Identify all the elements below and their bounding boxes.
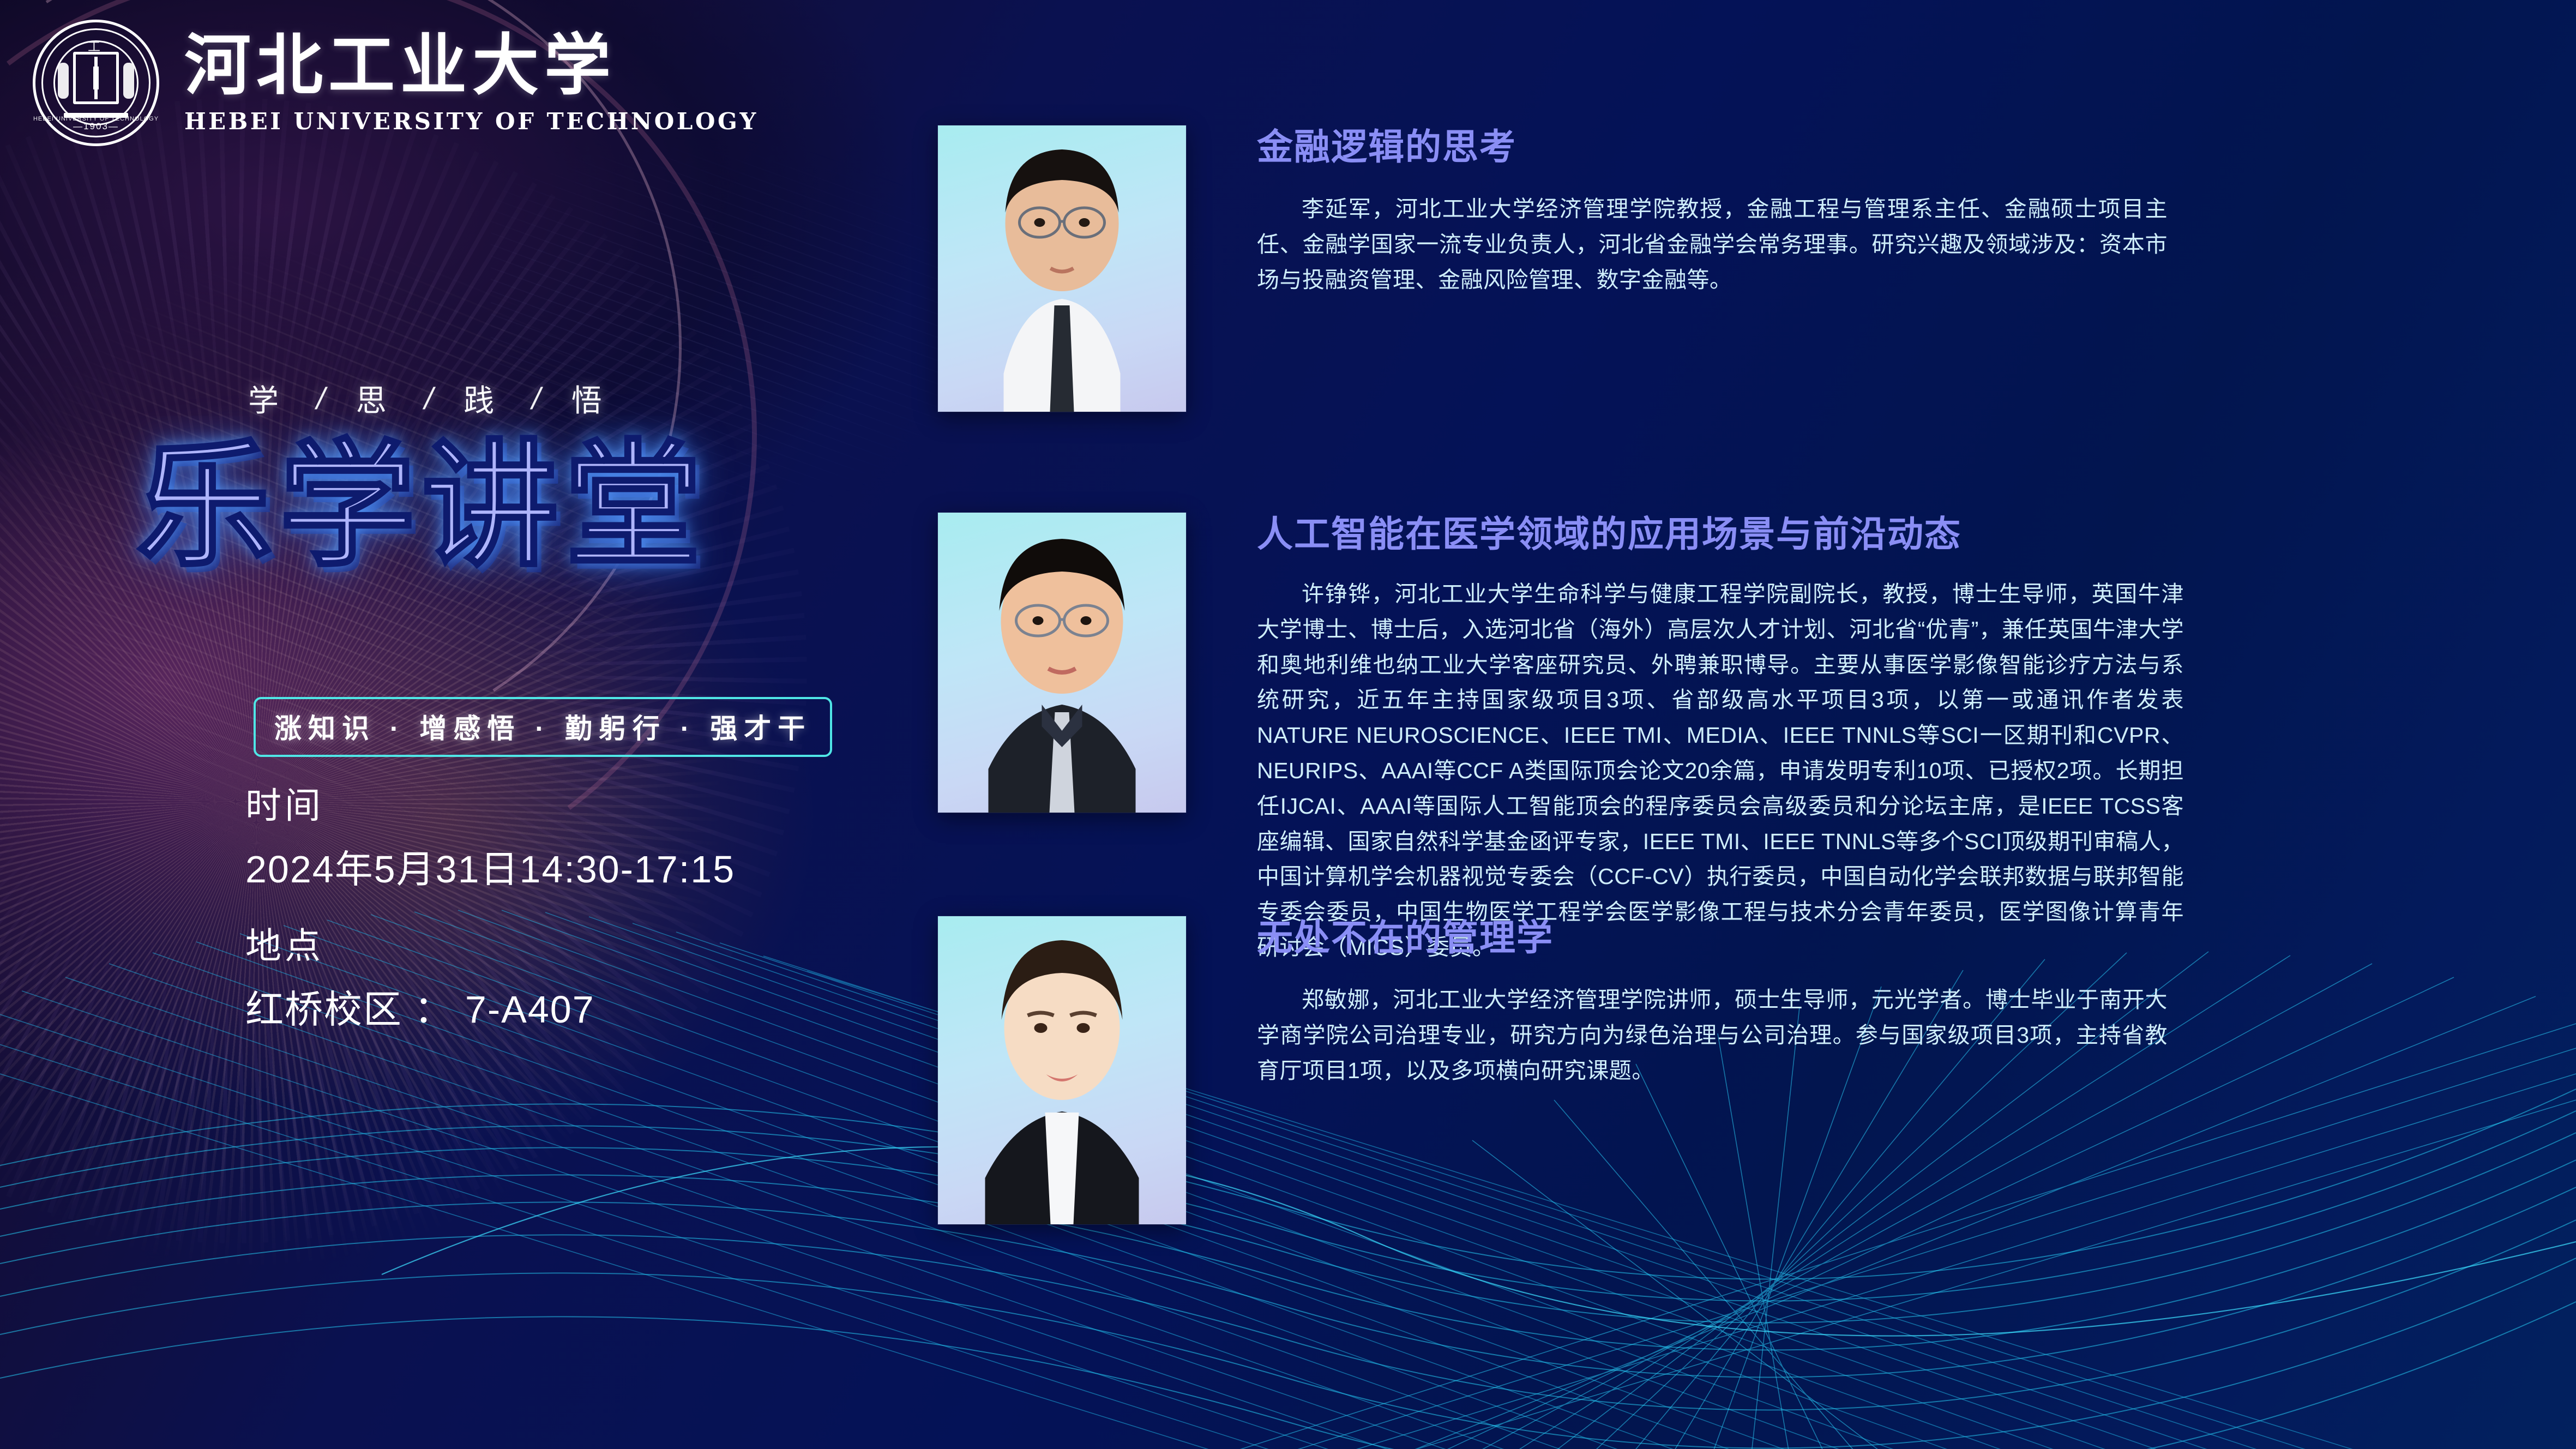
event-info: 时间 2024年5月31日14:30-17:15 地点 红桥校区 ： 7-A40…: [245, 783, 735, 1035]
poster-canvas: 工 —1903— HEBEI UNIVERSITY OF TECHNOLOGY …: [0, 0, 2576, 1449]
speaker-portrait: [938, 125, 1186, 412]
time-label: 时间: [245, 783, 735, 829]
speaker-item: 人工智能在医学领域的应用场景与前沿动态 许铮铧，河北工业大学生命科学与健康工程学…: [938, 513, 2184, 965]
keyword-separator-0: /: [313, 381, 329, 416]
speaker-portrait: [938, 513, 1186, 813]
speaker-topic: 金融逻辑的思考: [1257, 125, 2168, 169]
speaker-portrait: [938, 916, 1186, 1224]
speakers-list: 金融逻辑的思考 李延军，河北工业大学经济管理学院教授，金融工程与管理系主任、金融…: [905, 0, 2576, 1449]
hero-panel: 学 / 思 / 践 / 悟 乐学讲堂 涨知识 · 增感悟 · 勤躬行 · 强才干…: [0, 0, 905, 1449]
speaker-bio: 郑敏娜，河北工业大学经济管理学院讲师，硕士生导师，元光学者。博士毕业于南开大学商…: [1257, 982, 2168, 1088]
time-value: 2024年5月31日14:30-17:15: [245, 845, 735, 894]
speaker-topic: 无处不在的管理学: [1257, 916, 2168, 959]
hero-tagline-badge: 涨知识 · 增感悟 · 勤躬行 · 强才干: [254, 697, 832, 757]
keyword-separator-2: /: [528, 381, 544, 416]
speaker-text: 人工智能在医学领域的应用场景与前沿动态 许铮铧，河北工业大学生命科学与健康工程学…: [1257, 513, 2184, 965]
keyword-2: 践: [464, 376, 502, 420]
keyword-row: 学 / 思 / 践 / 悟: [248, 376, 610, 420]
keyword-separator-1: /: [421, 381, 437, 416]
speaker-item: 无处不在的管理学 郑敏娜，河北工业大学经济管理学院讲师，硕士生导师，元光学者。博…: [938, 916, 2168, 1224]
keyword-1: 思: [356, 376, 394, 420]
keyword-3: 悟: [571, 376, 610, 420]
place-value: 红桥校区 ： 7-A407: [245, 985, 735, 1035]
speaker-item: 金融逻辑的思考 李延军，河北工业大学经济管理学院教授，金融工程与管理系主任、金融…: [938, 125, 2168, 412]
speaker-text: 金融逻辑的思考 李延军，河北工业大学经济管理学院教授，金融工程与管理系主任、金融…: [1257, 125, 2168, 412]
place-label: 地点: [245, 923, 735, 970]
speaker-bio: 李延军，河北工业大学经济管理学院教授，金融工程与管理系主任、金融硕士项目主任、金…: [1257, 191, 2168, 297]
speaker-bio: 许铮铧，河北工业大学生命科学与健康工程学院副院长，教授，博士生导师，英国牛津大学…: [1257, 576, 2184, 965]
keyword-0: 学: [248, 376, 286, 420]
speaker-topic: 人工智能在医学领域的应用场景与前沿动态: [1257, 513, 2184, 556]
hero-title: 乐学讲堂: [136, 436, 708, 575]
speaker-text: 无处不在的管理学 郑敏娜，河北工业大学经济管理学院讲师，硕士生导师，元光学者。博…: [1257, 916, 2168, 1224]
